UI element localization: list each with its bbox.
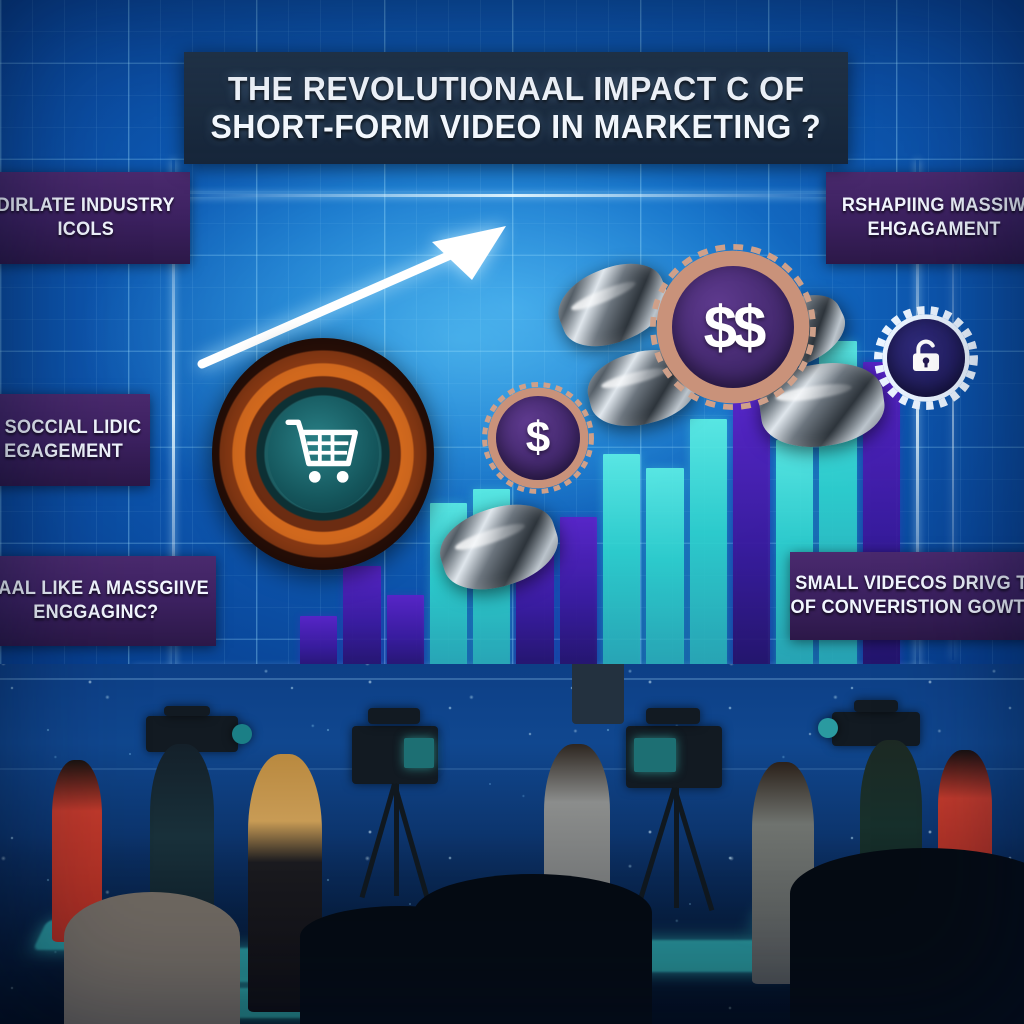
camera-lens xyxy=(232,724,252,744)
person-presenter xyxy=(572,664,624,724)
dollar-gear-coin-large: $$ xyxy=(650,244,816,410)
callout-line-1: DIRLATE INDUSTRY xyxy=(0,194,175,218)
callout-top-right[interactable]: RSHAPIING MASSIW EHGAGAMENT xyxy=(826,172,1024,264)
tripod-leg xyxy=(394,784,399,896)
coin-face: $ xyxy=(496,396,580,480)
chart-bar xyxy=(560,517,597,672)
chart-bar xyxy=(733,390,770,672)
dollar-symbol-small: $ xyxy=(526,413,550,463)
camera-top-mic xyxy=(646,708,700,724)
padlock-icon xyxy=(903,335,949,381)
chart-bar xyxy=(646,468,683,672)
shopping-cart-icon xyxy=(280,416,366,492)
tripod-leg xyxy=(674,788,679,908)
camera-body xyxy=(832,712,920,746)
foreground-silhouette xyxy=(414,874,652,1024)
callout-line-1: E SOCCIAL LIDIC xyxy=(0,416,141,440)
foreground-silhouette xyxy=(790,848,1024,1024)
callout-line-2: ENGGAGINC? xyxy=(33,601,158,625)
callout-bottom-right[interactable]: SMALL VIDECOS DRIVG TI OF CONVERISTION G… xyxy=(790,552,1024,640)
callout-line-2: EGAGEMENT xyxy=(5,440,124,464)
camera-screen xyxy=(404,738,434,768)
callout-top-left[interactable]: DIRLATE INDUSTRY ICOLS xyxy=(0,172,190,264)
title-line-1: THE REVOLUTIONAAL IMPACT C OF xyxy=(228,71,805,107)
camera-lens xyxy=(818,718,838,738)
callout-line-2: OF CONVERISTION GOWTH xyxy=(790,596,1024,620)
callout-middle-left[interactable]: E SOCCIAL LIDIC EGAGEMENT xyxy=(0,394,150,486)
poster-canvas: $$ $ DIRLATE INDUSTRY ICOLS xyxy=(0,0,1024,1024)
camera-screen xyxy=(634,738,676,772)
chart-bar xyxy=(343,566,380,672)
cart-button-inner xyxy=(268,396,379,512)
callout-bottom-left[interactable]: MAAL LIKE A MASSGIIVE ENGGAGINC? xyxy=(0,556,216,646)
lock-gear-badge xyxy=(874,306,978,410)
chart-bar xyxy=(387,595,424,672)
camera-handle xyxy=(164,706,210,716)
callout-line-2: EHGAGAMENT xyxy=(867,218,1000,242)
city-horizon-line xyxy=(0,678,1024,680)
chart-bar xyxy=(603,454,640,672)
poster-title-banner: THE REVOLUTIONAAL IMPACT C OF SHORT-FORM… xyxy=(184,52,848,164)
callout-line-1: MAAL LIKE A MASSGIIVE xyxy=(0,577,209,601)
night-cityscape-scene xyxy=(0,664,1024,1024)
foreground-silhouette xyxy=(64,892,240,1024)
callout-line-2: ICOLS xyxy=(58,218,115,242)
shopping-cart-button[interactable] xyxy=(212,338,434,570)
coin-face xyxy=(887,319,965,397)
title-line-2: SHORT-FORM VIDEO IN MARKETING ? xyxy=(211,109,822,145)
callout-line-1: RSHAPIING MASSIW xyxy=(842,194,1024,218)
chart-bar xyxy=(690,419,727,672)
dollar-gear-coin-small: $ xyxy=(482,382,594,494)
callout-line-1: SMALL VIDECOS DRIVG TI xyxy=(795,572,1024,596)
camera-top-mic xyxy=(368,708,420,724)
coin-face: $$ xyxy=(672,266,794,388)
camera-handle xyxy=(854,700,898,712)
dollar-symbol-large: $$ xyxy=(704,293,763,362)
